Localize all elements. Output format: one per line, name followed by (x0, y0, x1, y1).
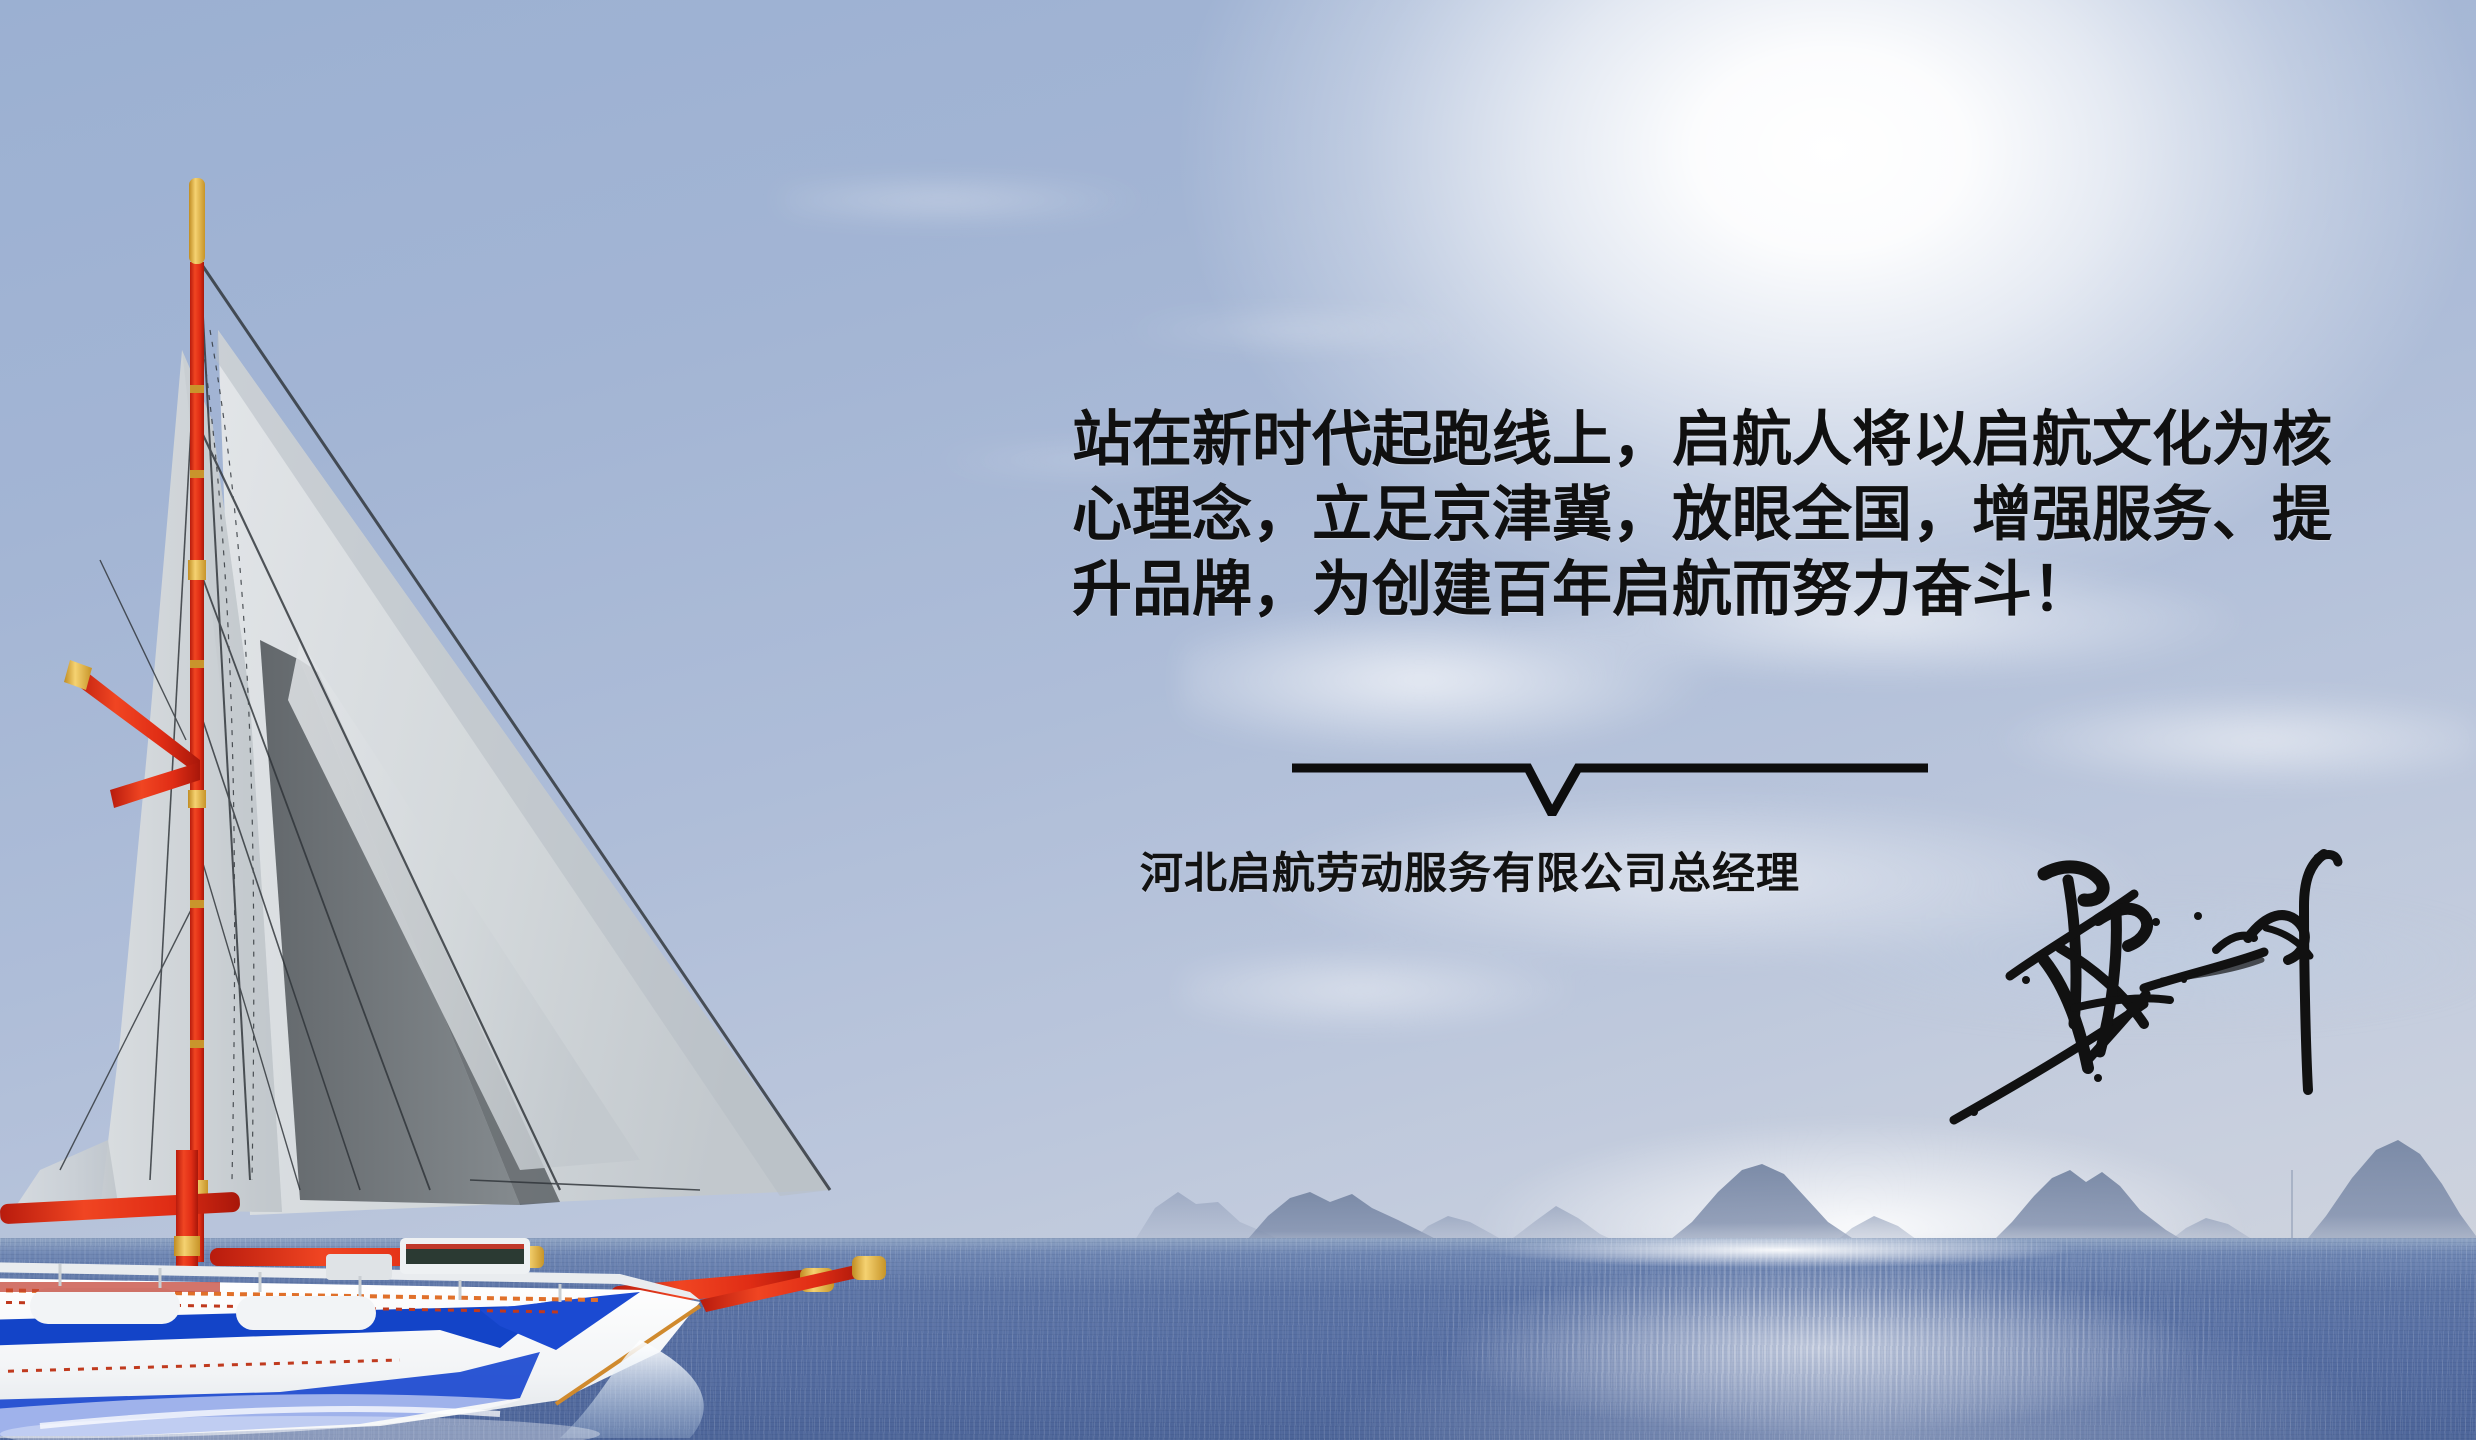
quote-text: 站在新时代起跑线上，启航人将以启航文化为核心理念，立足京津冀，放眼全国，增强服务… (1072, 402, 2340, 627)
divider-rule (1290, 756, 1930, 816)
sea-water (0, 1238, 2476, 1440)
banner-canvas: 站在新时代起跑线上，启航人将以启航文化为核心理念，立足京津冀，放眼全国，增强服务… (0, 0, 2476, 1440)
attribution-role: 河北启航劳动服务有限公司总经理 (1140, 846, 1800, 902)
handwritten-signature (1948, 828, 2368, 1138)
